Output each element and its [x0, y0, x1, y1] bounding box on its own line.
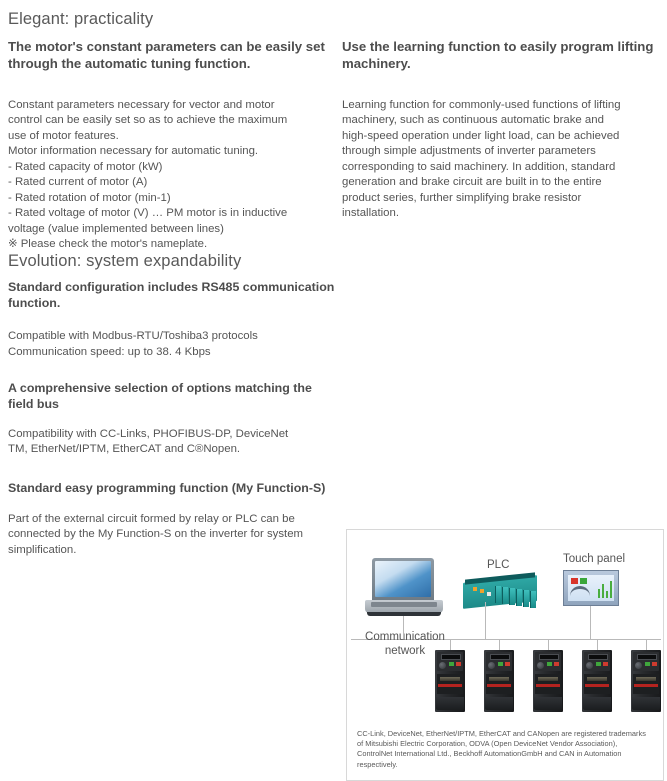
inverter-stripe [438, 684, 462, 687]
subhead-rs485: Standard configuration includes RS485 co… [8, 279, 338, 311]
body-line: Learning function for commonly-used func… [342, 98, 660, 114]
inverter-head [535, 652, 561, 671]
inverter-terminals [489, 677, 509, 681]
inverter-terminals [440, 677, 460, 681]
inverter-base [583, 697, 611, 710]
bar-chart-bar [602, 584, 604, 598]
inverter-stop-button [456, 662, 461, 666]
subhead-line: A comprehensive selection of options mat… [8, 381, 290, 395]
inverter-stripe [536, 684, 560, 687]
comm-label-line2: network [385, 645, 425, 657]
status-indicator-green [580, 578, 587, 584]
inverter-dial [635, 662, 642, 669]
body-line: generation and brake circuit are built i… [342, 175, 660, 191]
inverter-run-button [547, 662, 552, 666]
trademark-footnote: CC-Link, DeviceNet, EtherNet/IPTM, Ether… [357, 729, 653, 770]
inverter-display [539, 654, 559, 660]
plc-slot [509, 588, 515, 605]
inverter-run-button [449, 662, 454, 666]
plc-slot [502, 587, 508, 604]
subhead-line: Function-S) [257, 481, 326, 495]
subhead-line: Standard easy programming function (My [8, 481, 253, 495]
inverter-terminal-block [633, 674, 659, 694]
inverter-terminals [587, 677, 607, 681]
top-left-lead: The motor's constant parameters can be e… [8, 38, 332, 73]
inverter-head [437, 652, 463, 671]
top-right-body: Learning function for commonly-used func… [342, 98, 660, 222]
inverter-stripe [634, 684, 658, 687]
comm-label-line1: Communication [365, 631, 445, 643]
body-line: product series, further simplifying brak… [342, 191, 660, 207]
inverter-base [436, 697, 464, 710]
inverter-run-button [596, 662, 601, 666]
inverter-stop-button [652, 662, 657, 666]
laptop-screen [375, 561, 431, 597]
inverter-terminal-block [535, 674, 561, 694]
inverter-run-button [498, 662, 503, 666]
plc-chip [487, 592, 491, 596]
body-line: Compatibility with CC-Links, PHOFIBUS-DP… [8, 427, 338, 443]
inverter-dial [586, 662, 593, 669]
laptop-icon [365, 558, 443, 616]
plc-module-icon [463, 575, 537, 607]
body-line: ※ Please check the motor's nameplate. [8, 237, 332, 253]
inverter-icon [582, 650, 612, 712]
inverter-stop-button [554, 662, 559, 666]
body-line: high-speed operation under light load, c… [342, 129, 660, 145]
drop-line-laptop [403, 616, 404, 639]
drop-line-touch-panel [590, 606, 591, 639]
section-title-evolution: Evolution: system expandability [8, 252, 241, 272]
subhead-my-function-s: Standard easy programming function (My F… [8, 480, 338, 496]
inverter-terminal-block [437, 674, 463, 694]
inverter-display [490, 654, 510, 660]
inverter-head [584, 652, 610, 671]
para-field-bus: Compatibility with CC-Links, PHOFIBUS-DP… [8, 427, 338, 458]
top-left-lead-line1: The motor's constant parameters can be e… [8, 39, 302, 54]
subhead-line: Standard configuration includes RS485 [8, 280, 239, 294]
body-line: - Rated voltage of motor (V) … PM motor … [8, 206, 332, 222]
inverter-stop-button [603, 662, 608, 666]
body-line: Communication speed: up to 38. 4 Kbps [8, 345, 338, 361]
body-line: control can be easily set so as to achie… [8, 113, 332, 129]
plc-slot [516, 589, 522, 606]
plc-slot [530, 591, 536, 608]
touch-panel-label: Touch panel [563, 553, 625, 565]
bar-chart-bar [610, 581, 612, 598]
body-line: simplification. [8, 543, 338, 559]
inverter-head [486, 652, 512, 671]
top-right-lead: Use the learning function to easily prog… [342, 38, 660, 73]
inverter-icon [484, 650, 514, 712]
body-line: Constant parameters necessary for vector… [8, 98, 332, 114]
plc-label: PLC [487, 559, 509, 571]
body-line: - Rated current of motor (A) [8, 175, 332, 191]
inverter-dial [439, 662, 446, 669]
inverter-icon [435, 650, 465, 712]
section-title-elegant: Elegant: practicality [8, 10, 153, 30]
inverter-icon [631, 650, 661, 712]
slide-page: Elegant: practicality The motor's consta… [0, 0, 667, 544]
subhead-field-bus: A comprehensive selection of options mat… [8, 380, 338, 412]
top-left-body: Constant parameters necessary for vector… [8, 98, 332, 253]
body-line: corresponding to said machinery. In addi… [342, 160, 660, 176]
plc-chip [473, 587, 477, 591]
body-line: connected by the My Function-S on the in… [8, 527, 338, 543]
body-line: - Rated rotation of motor (min-1) [8, 191, 332, 207]
inverter-display [637, 654, 657, 660]
bottom-left-column: Standard configuration includes RS485 co… [8, 279, 338, 558]
inverter-stripe [487, 684, 511, 687]
laptop-keyboard [371, 602, 437, 607]
body-line: installation. [342, 206, 660, 222]
body-line: TM, EtherNet/IPTM, EtherCAT and C®Nopen. [8, 442, 338, 458]
inverter-stripe [585, 684, 609, 687]
body-line: use of motor features. [8, 129, 332, 145]
inverter-terminal-block [584, 674, 610, 694]
body-line: Part of the external circuit formed by r… [8, 512, 338, 528]
inverter-terminals [636, 677, 656, 681]
inverter-icon [533, 650, 563, 712]
body-line: machinery, such as continuous automatic … [342, 113, 660, 129]
top-right-column: Use the learning function to easily prog… [342, 38, 660, 222]
inverter-base [632, 697, 660, 710]
body-line: Compatible with Modbus-RTU/Toshiba3 prot… [8, 329, 338, 345]
inverter-display [441, 654, 461, 660]
inverter-base [485, 697, 513, 710]
top-right-lead-line1: Use the learning function to easily prog… [342, 39, 614, 54]
inverter-base [534, 697, 562, 710]
plc-slot [495, 586, 501, 603]
inverter-dial [537, 662, 544, 669]
inverter-head [633, 652, 659, 671]
inverter-stop-button [505, 662, 510, 666]
touch-panel-icon [563, 570, 619, 608]
para-my-function-s: Part of the external circuit formed by r… [8, 512, 338, 559]
body-line: through simple adjustments of inverter p… [342, 144, 660, 160]
body-line: voltage (value implemented between lines… [8, 222, 332, 238]
laptop-foot [367, 612, 441, 616]
inverter-run-button [645, 662, 650, 666]
body-line: Motor information necessary for automati… [8, 144, 332, 160]
plc-slot [523, 590, 529, 607]
bar-chart-bar [606, 591, 608, 598]
top-left-column: The motor's constant parameters can be e… [8, 38, 332, 253]
inverter-terminals [538, 677, 558, 681]
inverter-terminal-block [486, 674, 512, 694]
plc-chip [480, 589, 484, 593]
system-diagram-panel: PLC Touch panel [346, 529, 664, 781]
touch-panel-frame [563, 570, 619, 606]
inverter-dial [488, 662, 495, 669]
laptop-lid [372, 558, 434, 600]
bar-chart-bar [598, 589, 600, 598]
status-indicator-red [571, 578, 578, 584]
inverter-display [588, 654, 608, 660]
body-line: - Rated capacity of motor (kW) [8, 160, 332, 176]
drop-line-plc [485, 602, 486, 639]
gauge-icon [570, 586, 590, 599]
touch-panel-screen [568, 575, 614, 601]
para-rs485: Compatible with Modbus-RTU/Toshiba3 prot… [8, 329, 338, 360]
